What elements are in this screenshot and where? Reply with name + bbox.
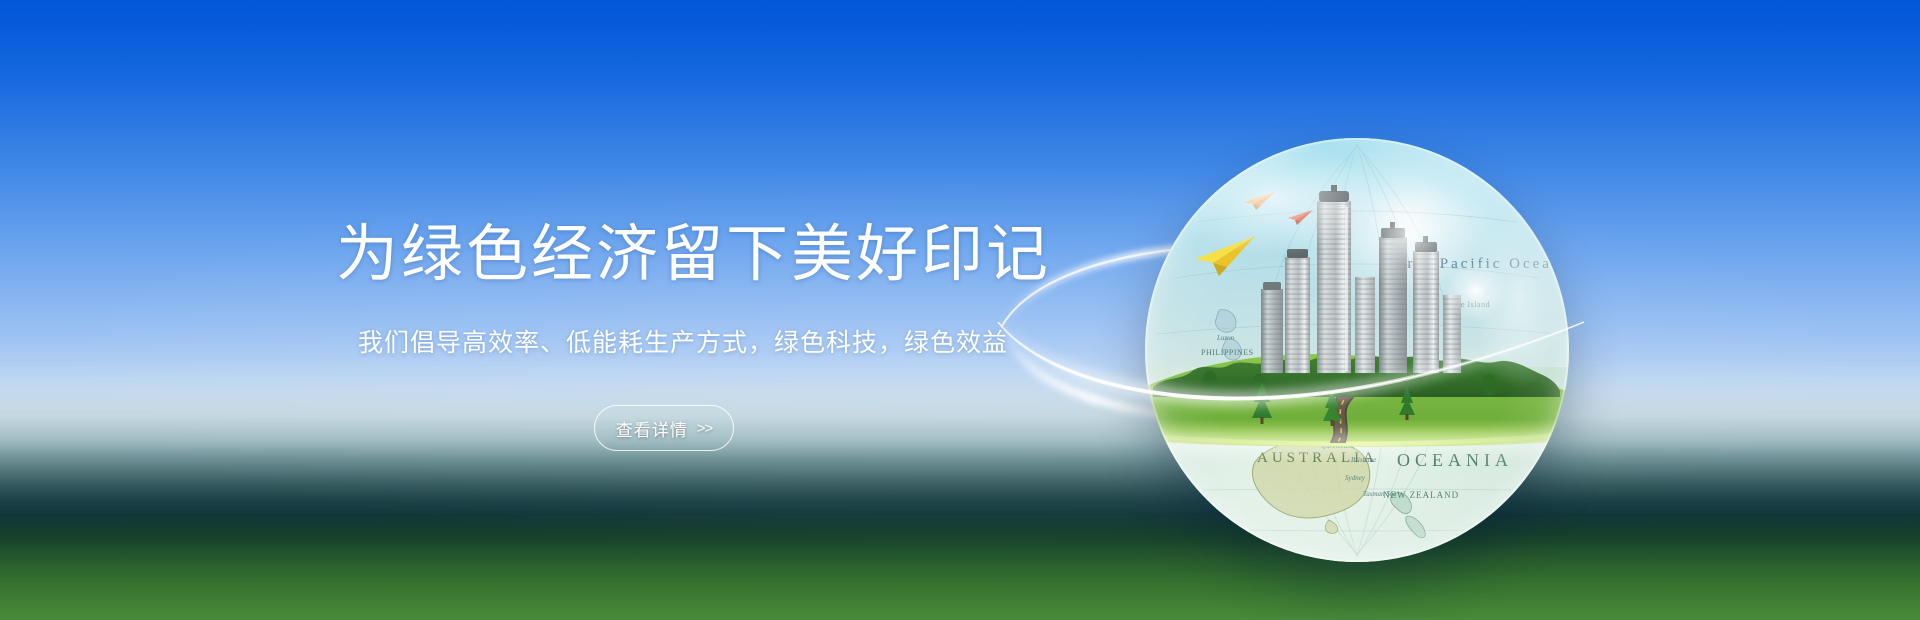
paper-plane-red-icon — [1285, 208, 1315, 226]
view-details-label: 查看详情 — [616, 416, 688, 441]
chevron-right-icon: >> — [697, 420, 713, 437]
hero-banner: North Pacific Ocean OCEANIA AUSTRALIA NE… — [0, 0, 1920, 620]
page-subtitle: 我们倡导高效率、低能耗生产方式，绿色科技，绿色效益 — [358, 328, 1008, 359]
background-grass-glow — [0, 521, 1920, 620]
page-title: 为绿色经济留下美好印记 — [336, 222, 1051, 287]
globe-illustration: North Pacific Ocean OCEANIA AUSTRALIA NE… — [1145, 138, 1569, 562]
paper-plane-yellow-icon — [1189, 233, 1259, 279]
paper-plane-orange-icon — [1241, 190, 1277, 212]
view-details-button[interactable]: 查看详情 >> — [594, 405, 734, 451]
globe-sphere: North Pacific Ocean OCEANIA AUSTRALIA NE… — [1145, 138, 1569, 562]
background-horizon-blur — [0, 384, 1920, 520]
